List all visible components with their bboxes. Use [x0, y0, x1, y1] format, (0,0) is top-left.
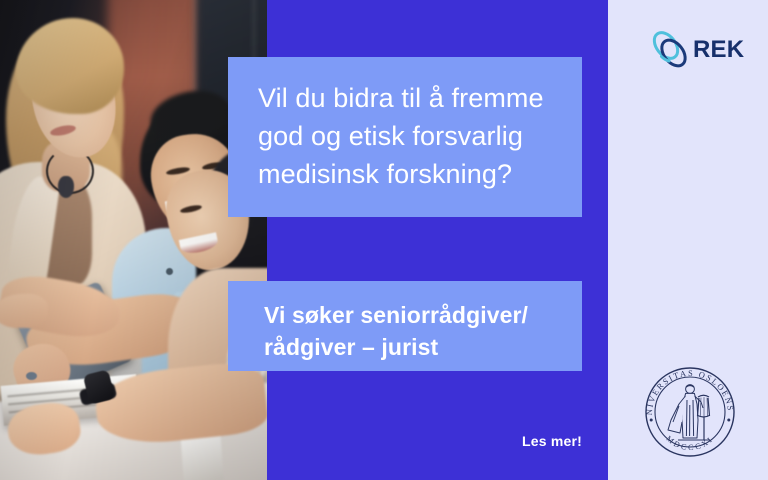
rek-logo[interactable]: REK: [648, 26, 744, 74]
rek-wordmark: REK: [693, 38, 744, 62]
recruitment-banner: Vil du bidra til å fremme god og etisk f…: [0, 0, 768, 480]
uio-seal: UNIVERSITAS OSLOENSIS MDCCCXI: [638, 360, 742, 464]
interlocking-rings-icon: [648, 28, 692, 72]
headline-panel: Vil du bidra til å fremme god og etisk f…: [228, 57, 582, 217]
headline-text: Vil du bidra til å fremme god og etisk f…: [258, 79, 554, 193]
job-title-text: Vi søker seniorrådgiver/ rådgiver – juri…: [264, 299, 554, 363]
team-collaboration-photo: [0, 0, 267, 480]
job-title-panel: Vi søker seniorrådgiver/ rådgiver – juri…: [228, 281, 582, 371]
read-more-link[interactable]: Les mer!: [466, 430, 582, 452]
photo-overlay-shade: [0, 0, 267, 480]
